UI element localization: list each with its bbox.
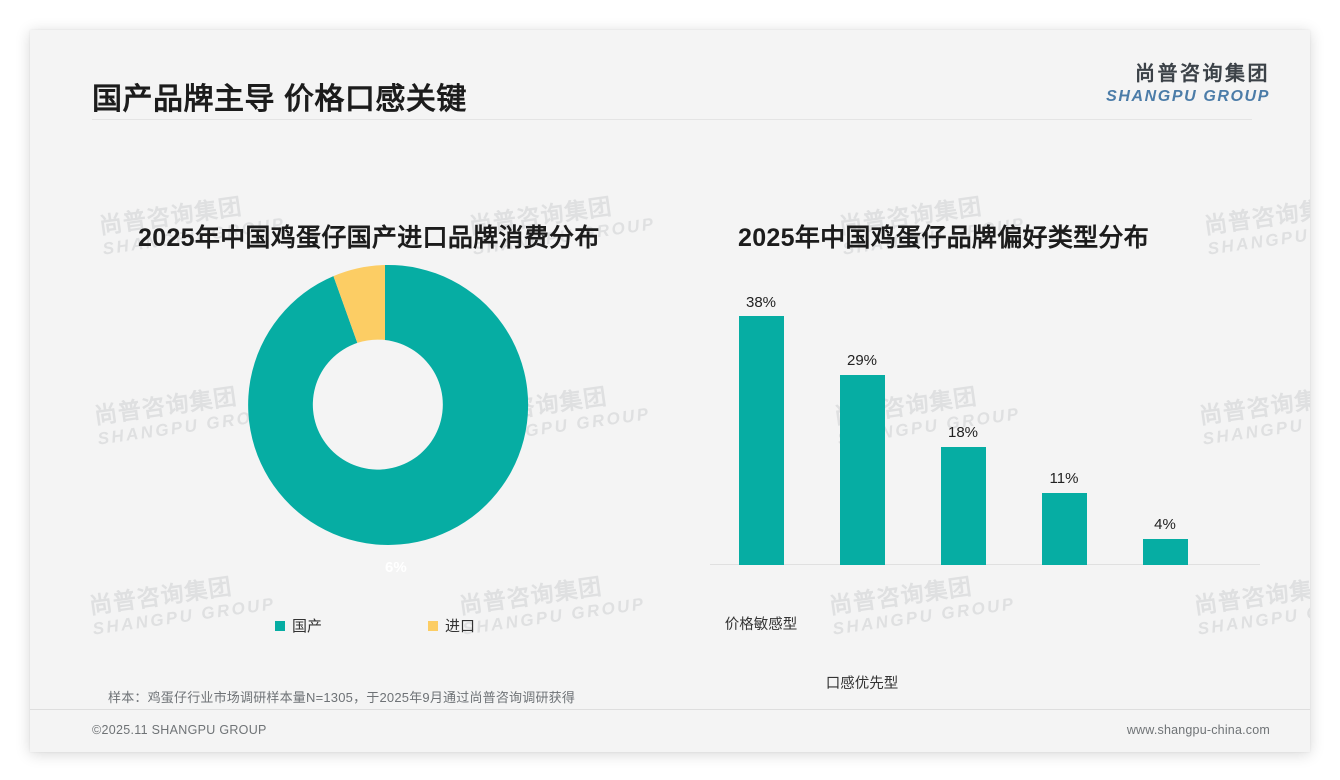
chart-panel-donut: 2025年中国鸡蛋仔国产进口品牌消费分布 6% 94% 国产 [80,180,670,680]
donut-slice-domestic[interactable] [248,265,528,545]
slide-header: 国产品牌主导 价格口感关键 尚普咨询集团 SHANGPU GROUP [30,30,1310,120]
bar-rect[interactable] [739,316,784,565]
bar-value-label: 38% [710,294,812,311]
page-title: 国产品牌主导 价格口感关键 [92,74,467,118]
legend-item-import[interactable]: 进口 [428,615,475,636]
sample-note: 样本：鸡蛋仔行业市场调研样本量N=1305，于2025年9月通过尚普咨询调研获得 [108,687,575,706]
donut-svg [240,260,530,550]
screenshot-canvas: 尚普咨询集团 SHANGPU GROUP 尚普咨询集团 SHANGPU GROU… [0,0,1340,780]
bar-category-label: 口感优先型 [811,672,913,693]
bar-rect[interactable] [1143,539,1188,565]
donut-label-import: 6% [385,559,407,576]
donut-legend: 国产 进口 [80,615,670,636]
bar-column: 11% 品牌忠诚型 [1013,493,1115,565]
bar-column: 29% 口感优先型 [811,375,913,565]
bar-rect[interactable] [840,375,885,565]
chart-panel-bar: 2025年中国鸡蛋仔品牌偏好类型分布 38% 价格敏感型 29% 口感优先型 [690,180,1280,680]
bar-rect[interactable] [1042,493,1087,565]
bar-chart-title: 2025年中国鸡蛋仔品牌偏好类型分布 [738,218,1149,254]
bar-plot-area: 38% 价格敏感型 29% 口感优先型 18% 便捷购买型 [710,275,1260,565]
footer-website[interactable]: www.shangpu-china.com [1127,723,1270,737]
legend-swatch-yellow [428,621,438,631]
bar-value-label: 29% [811,352,913,369]
bar-value-label: 18% [912,424,1014,441]
bar-rect[interactable] [941,447,986,565]
bar-column: 4% 健康关注型 [1114,539,1216,565]
logo-en-text: SHANGPU GROUP [1106,87,1270,108]
donut-chart-title: 2025年中国鸡蛋仔国产进口品牌消费分布 [138,218,600,254]
bar-column: 38% 价格敏感型 [710,316,812,565]
donut-chart: 6% 94% [80,260,670,600]
bar-chart: 38% 价格敏感型 29% 口感优先型 18% 便捷购买型 [710,275,1260,595]
legend-label-domestic: 国产 [292,615,322,636]
legend-label-import: 进口 [445,615,475,636]
footer-copyright: ©2025.11 SHANGPU GROUP [92,723,267,737]
slide-footer: ©2025.11 SHANGPU GROUP www.shangpu-china… [30,710,1310,752]
bar-category-label: 价格敏感型 [710,613,812,634]
legend-swatch-teal [275,621,285,631]
bar-value-label: 4% [1114,516,1216,533]
bar-column: 18% 便捷购买型 [912,447,1014,565]
logo-cn-text: 尚普咨询集团 [1106,62,1270,87]
legend-item-domestic[interactable]: 国产 [275,615,322,636]
slide-card: 尚普咨询集团 SHANGPU GROUP 尚普咨询集团 SHANGPU GROU… [30,30,1310,752]
bar-value-label: 11% [1013,470,1115,487]
header-divider [92,119,1252,120]
brand-logo: 尚普咨询集团 SHANGPU GROUP [1106,62,1270,108]
